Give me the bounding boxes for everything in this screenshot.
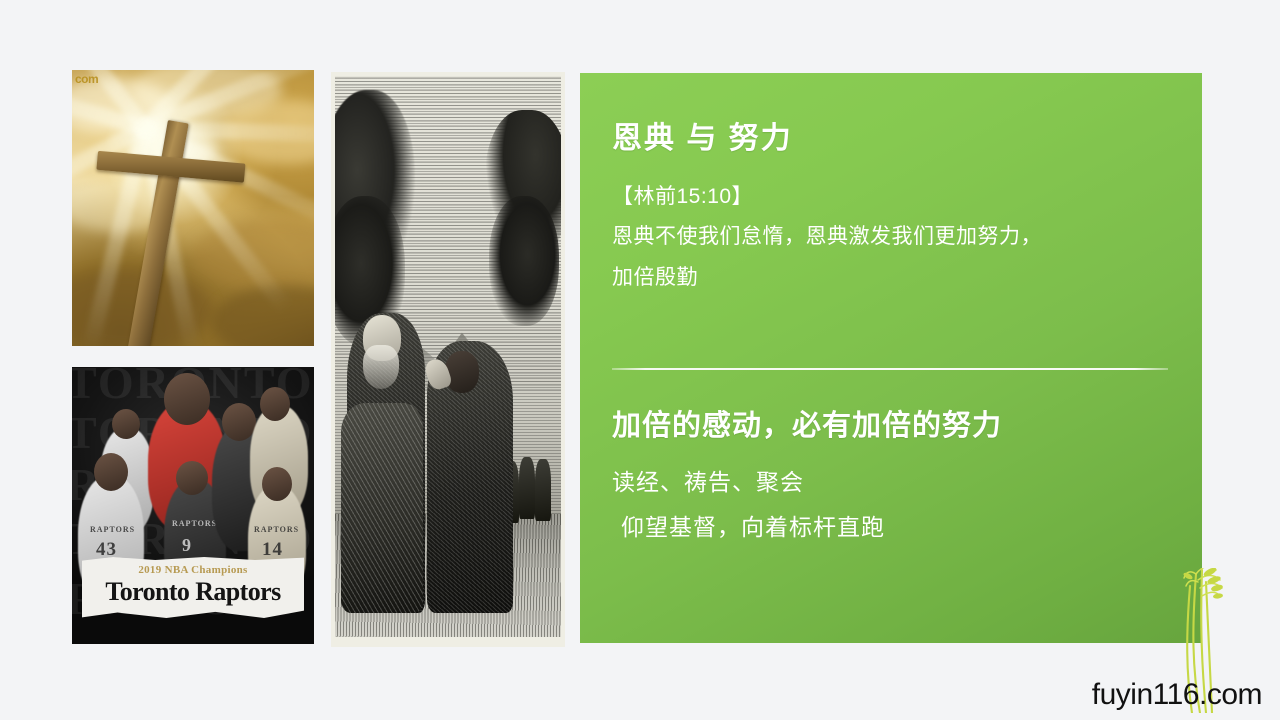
player-head xyxy=(112,409,140,439)
verse-line-1: 恩典不使我们怠惰，恩典激发我们更加努力， xyxy=(612,217,1162,258)
raptors-photo: TORONTO TORONTO RAPTORS TORONTO RAPTORS … xyxy=(72,367,314,644)
verse-reference: 【林前15:10】 xyxy=(612,177,1162,217)
engraving-image xyxy=(331,72,565,647)
jersey-number: 9 xyxy=(182,535,192,556)
engraving-elder-beard xyxy=(363,345,399,389)
player-head xyxy=(164,373,210,425)
champions-subtitle: 2019 NBA Champions xyxy=(82,564,304,576)
site-watermark: fuyin116.com xyxy=(1092,678,1262,712)
champions-title: Toronto Raptors xyxy=(82,577,304,607)
champions-banner: 2019 NBA Champions Toronto Raptors xyxy=(82,557,304,618)
jersey-word: RAPTORS xyxy=(90,525,135,534)
cloud-shape xyxy=(212,285,314,346)
player-head xyxy=(176,461,208,495)
slide-canvas: com TORONTO TORONTO RAPTORS TORONTO RAPT… xyxy=(0,0,1280,720)
jersey-word: RAPTORS xyxy=(172,519,217,528)
engraving-disciple-head xyxy=(445,351,479,393)
jersey-word: RAPTORS xyxy=(254,525,299,534)
player-head xyxy=(260,387,290,421)
cross-photo: com xyxy=(72,70,314,346)
player-head xyxy=(222,403,256,441)
panel-headline: 恩典 与 努力 xyxy=(612,121,1162,157)
engraving-elder-robe xyxy=(341,403,423,613)
player-head xyxy=(94,453,128,491)
player-head xyxy=(262,467,292,501)
sun-rays xyxy=(145,120,147,122)
green-content-panel: 恩典 与 努力 【林前15:10】 恩典不使我们怠惰，恩典激发我们更加努力， 加… xyxy=(580,73,1202,643)
jersey-number: 14 xyxy=(262,539,283,561)
engraving-palm-tree xyxy=(489,196,559,326)
verse-line-2: 加倍殷勤 xyxy=(612,258,1162,299)
left-image-column: com TORONTO TORONTO RAPTORS TORONTO RAPT… xyxy=(72,70,314,644)
engraving-bystander xyxy=(535,459,551,521)
engraving-bystander xyxy=(519,457,535,519)
panel-lower-block: 加倍的感动，必有加倍的努力 读经、祷告、聚会 仰望基督，向着标杆直跑 xyxy=(612,409,1172,549)
panel-bullet-2: 仰望基督，向着标杆直跑 xyxy=(612,505,1172,550)
panel-sub-headline: 加倍的感动，必有加倍的努力 xyxy=(612,409,1172,444)
panel-bullet-1: 读经、祷告、聚会 xyxy=(612,460,1172,505)
section-divider xyxy=(612,368,1168,370)
corner-watermark: com xyxy=(75,72,98,86)
